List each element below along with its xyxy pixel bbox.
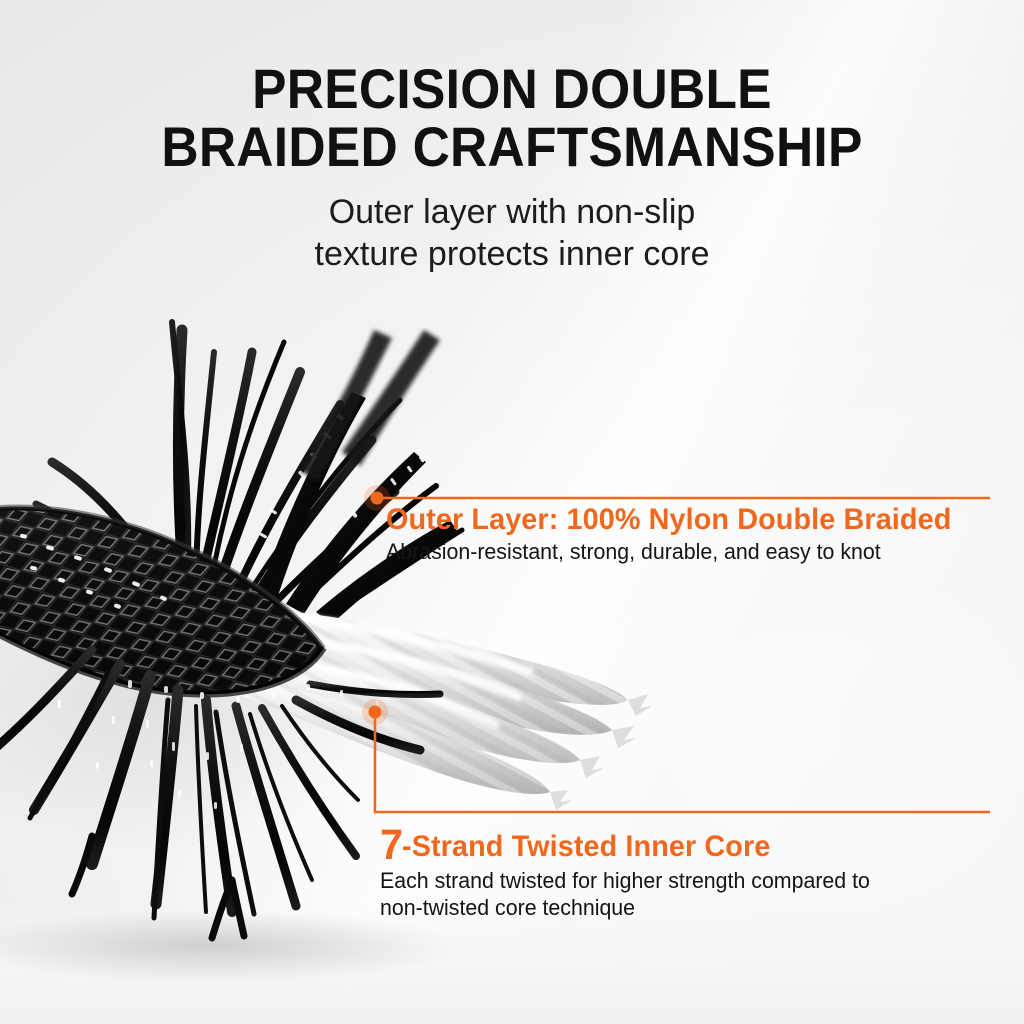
callout-2-lead-number: 7 (380, 821, 402, 869)
callout-outer-layer: Outer Layer: 100% Nylon Double Braided A… (386, 503, 975, 565)
callout-inner-core: 7-Strand Twisted Inner Core Each strand … (380, 828, 885, 921)
page-subtitle: Outer layer with non-slip texture protec… (0, 191, 1024, 275)
callout-2-title-rest: -Strand Twisted Inner Core (402, 830, 770, 863)
callout-2-title: 7-Strand Twisted Inner Core (380, 828, 865, 864)
callout-2-body: Each strand twisted for higher strength … (380, 867, 870, 921)
infographic-canvas: PRECISION DOUBLE BRAIDED CRAFTSMANSHIP O… (0, 0, 1024, 1024)
page-headline: PRECISION DOUBLE BRAIDED CRAFTSMANSHIP (41, 60, 983, 176)
callout-1-body: Abrasion-resistant, strong, durable, and… (386, 538, 957, 565)
callout-1-title: Outer Layer: 100% Nylon Double Braided (386, 503, 951, 537)
